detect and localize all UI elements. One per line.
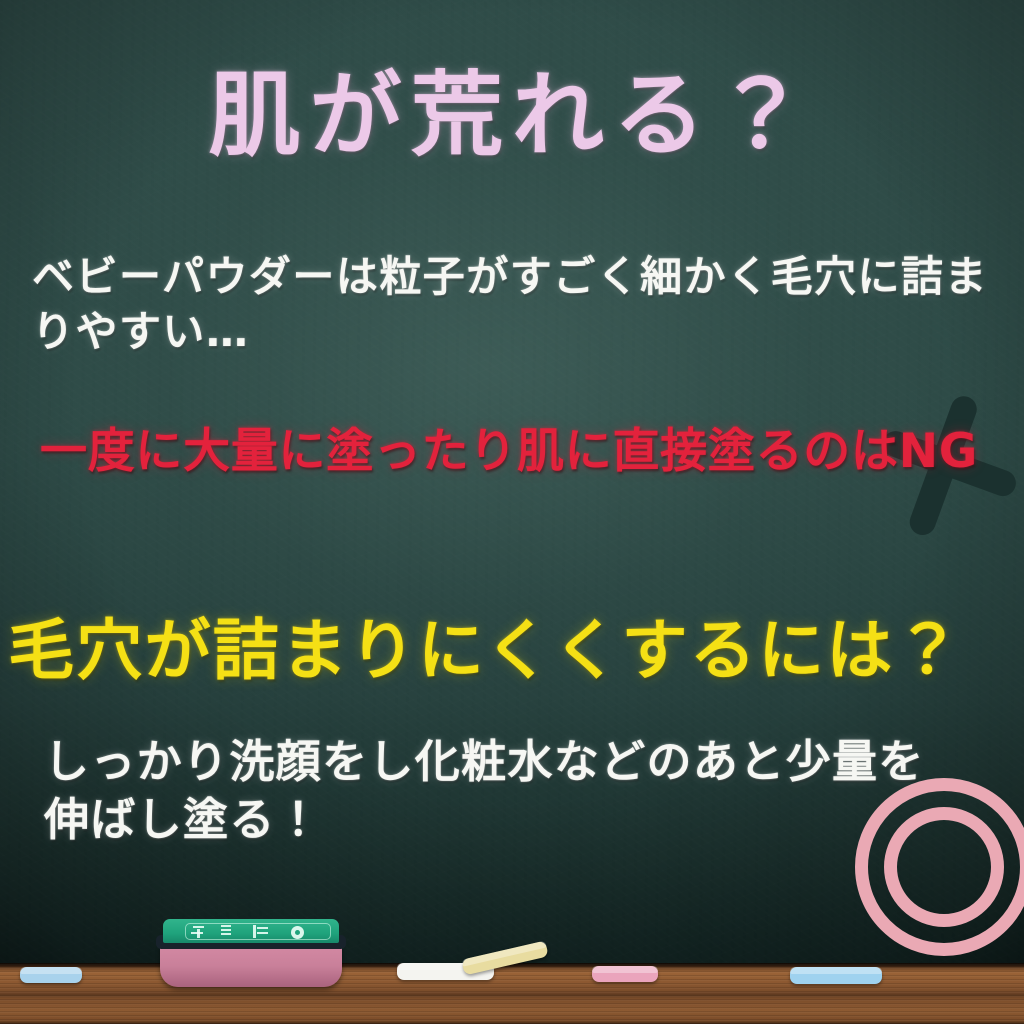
- page-title: 肌が荒れる？: [0, 62, 1024, 171]
- eraser-top-felt: [163, 919, 339, 943]
- chalk-stick-blue-right: [790, 967, 882, 984]
- blackboard-eraser-icon: [156, 919, 346, 987]
- section-subheading: 毛穴が詰まりにくくするには？: [8, 612, 1024, 690]
- eraser-logo-dot-icon: [291, 926, 304, 939]
- blackboard-poster: 肌が荒れる？ ベビーパウダーは粒子がすごく細かく毛穴に詰まりやすい… 一度に大量…: [0, 0, 1024, 1024]
- body-paragraph-primary: ベビーパウダーは粒子がすごく細かく毛穴に詰まりやすい…: [32, 250, 1012, 359]
- eraser-mark-3a: [253, 925, 256, 938]
- eraser-mark-3c: [257, 932, 268, 934]
- chalk-stick-pink: [592, 966, 658, 982]
- eraser-mark-3b: [257, 927, 268, 929]
- eraser-mark-1c: [191, 932, 203, 934]
- warning-text: 一度に大量に塗ったり肌に直接塗るのはNG: [40, 424, 1024, 479]
- chalk-stick-blue-left: [20, 967, 82, 983]
- eraser-mark-2c: [221, 933, 231, 935]
- eraser-mark-1a: [193, 926, 204, 928]
- body-paragraph-secondary: しっかり洗顔をし化粧水などのあと少量を伸ばし塗る！: [44, 733, 944, 848]
- eraser-body: [160, 943, 342, 987]
- eraser-mark-2b: [221, 929, 231, 931]
- eraser-mark-2a: [221, 925, 231, 927]
- eraser-label-marks: [191, 924, 325, 939]
